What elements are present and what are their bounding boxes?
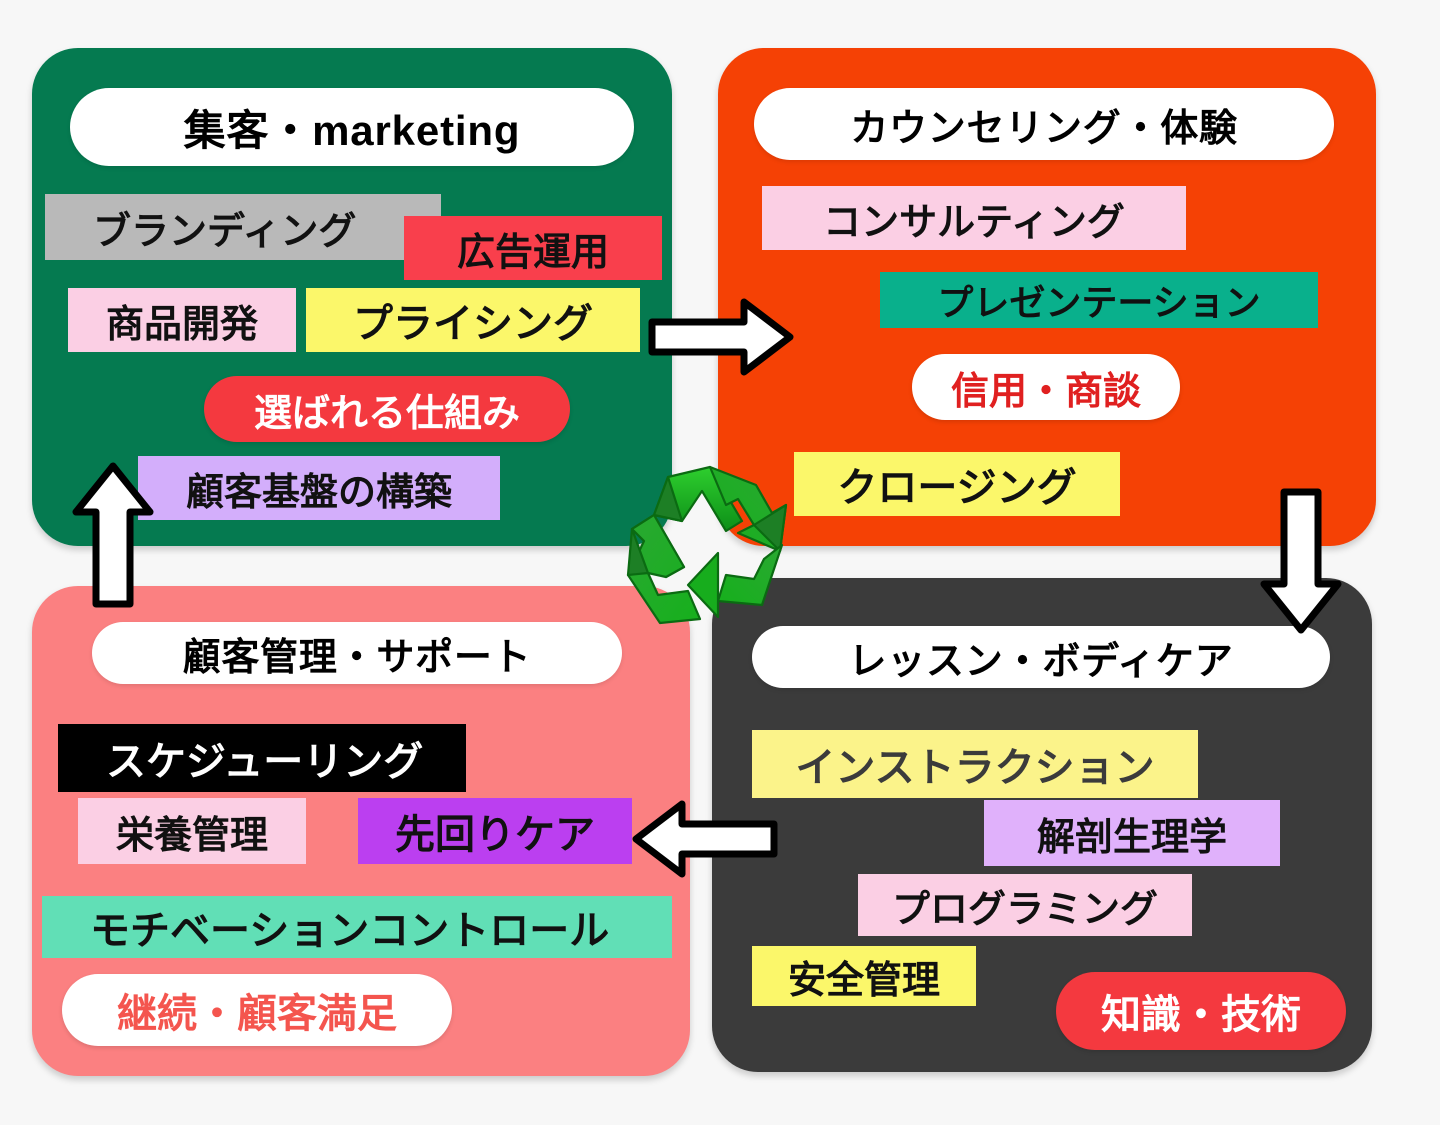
tag-presentation: プレゼンテーション xyxy=(880,272,1318,328)
tag-branding: ブランディング xyxy=(45,194,441,260)
tag-consulting: コンサルティング xyxy=(762,186,1186,250)
quadrant-heading-support: 顧客管理・サポート xyxy=(92,622,622,684)
tag-instruction: インストラクション xyxy=(752,730,1198,798)
tag-programming: プログラミング xyxy=(858,874,1192,936)
quadrant-heading-counseling: カウンセリング・体験 xyxy=(754,88,1334,160)
arrow-lesson-to-support-icon xyxy=(632,798,778,880)
quadrant-heading-lesson: レッスン・ボディケア xyxy=(752,626,1330,688)
arrow-counseling-to-lesson-icon xyxy=(1258,488,1344,634)
tag-customer-base-building: 顧客基盤の構築 xyxy=(138,456,500,520)
tag-chosen-mechanism: 選ばれる仕組み xyxy=(204,376,570,442)
tag-knowledge-skill: 知識・技術 xyxy=(1056,972,1346,1050)
arrow-support-to-marketing-icon xyxy=(70,462,156,608)
tag-pricing: プライシング xyxy=(306,288,640,352)
tag-ad-operations: 広告運用 xyxy=(404,216,662,280)
diagram-canvas: 集客・marketing ブランディング 広告運用 商品開発 プライシング 選ば… xyxy=(0,0,1440,1125)
tag-retention-satisfaction: 継続・顧客満足 xyxy=(62,974,452,1046)
tag-scheduling: スケジューリング xyxy=(58,724,466,792)
tag-anatomy-physiology: 解剖生理学 xyxy=(984,800,1280,866)
tag-product-development: 商品開発 xyxy=(68,288,296,352)
tag-closing: クロージング xyxy=(794,452,1120,516)
tag-nutrition-management: 栄養管理 xyxy=(78,798,306,864)
quadrant-heading-marketing: 集客・marketing xyxy=(70,88,634,166)
arrow-marketing-to-counseling-icon xyxy=(648,296,794,378)
tag-safety-management: 安全管理 xyxy=(752,946,976,1006)
tag-trust-negotiation: 信用・商談 xyxy=(912,354,1180,420)
tag-proactive-care: 先回りケア xyxy=(358,798,632,864)
tag-motivation-control: モチベーションコントロール xyxy=(42,896,672,958)
recycle-icon xyxy=(614,455,806,635)
